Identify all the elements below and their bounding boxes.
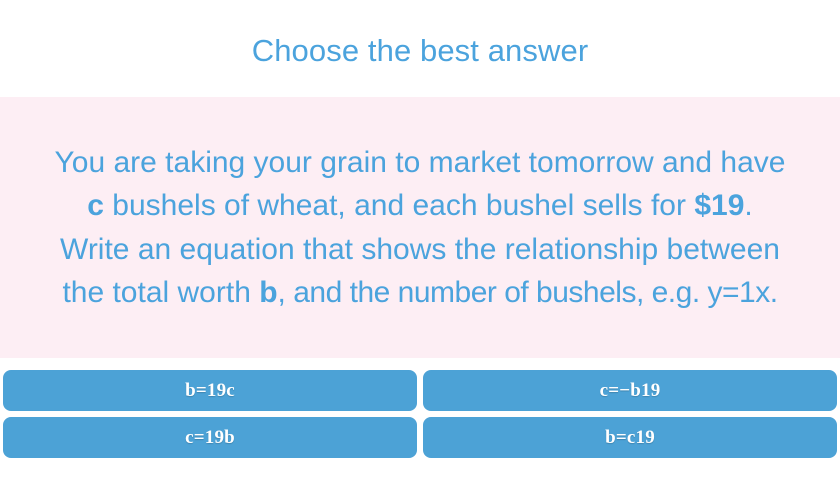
question-price-value: $19 (694, 189, 744, 222)
answer-option-c-label: c=19b (185, 427, 235, 449)
quiz-header: Choose the best answer (0, 0, 840, 97)
answer-option-c-button[interactable]: c=19b (3, 417, 417, 458)
question-panel: You are taking your grain to market tomo… (0, 97, 840, 358)
page-title: Choose the best answer (252, 35, 589, 66)
question-variable-b: b (259, 276, 277, 309)
quiz-container: Choose the best answer You are taking yo… (0, 0, 840, 501)
answer-option-d-button[interactable]: b=c19 (423, 417, 837, 458)
answer-option-b-button[interactable]: c=−b19 (423, 370, 837, 411)
answer-option-a-button[interactable]: b=19c (3, 370, 417, 411)
question-variable-c: c (87, 189, 104, 222)
question-text: You are taking your grain to market tomo… (50, 141, 790, 315)
answer-options-grid: b=19c c=−b19 c=19b b=c19 (0, 358, 840, 501)
answer-option-a-label: b=19c (185, 380, 235, 402)
answer-option-d-label: b=c19 (605, 427, 655, 449)
answer-option-b-label: c=−b19 (600, 380, 661, 402)
question-segment-2: bushels of wheat, and each bushel sells … (104, 189, 694, 222)
question-segment-0: You are taking your grain to market tomo… (55, 146, 786, 179)
question-segment-6: , and the number of bushels, e.g. y=1x. (278, 276, 778, 309)
